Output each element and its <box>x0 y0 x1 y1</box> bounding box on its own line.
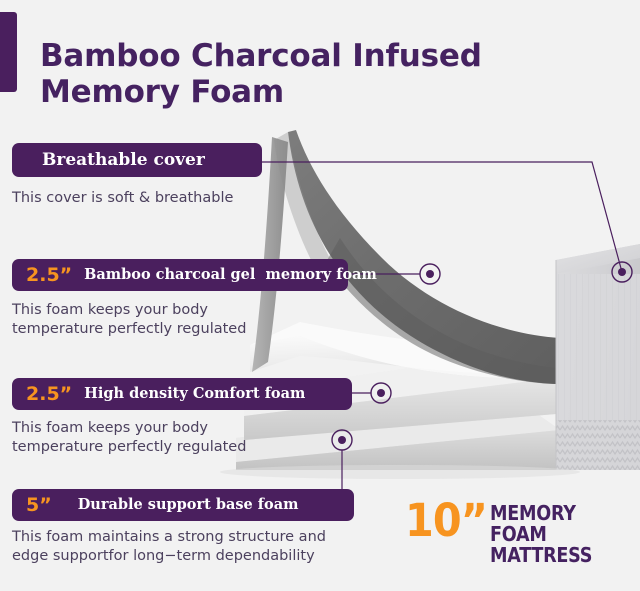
base-foam-layer <box>236 402 560 470</box>
callout-badge-high-density-comfort-foam[interactable]: 2.5” High density Comfort foam <box>12 378 352 410</box>
memory-foam-layer <box>250 322 552 378</box>
title-accent-bar <box>0 12 17 92</box>
size-words: MEMORY FOAM MATTRESS <box>490 503 622 567</box>
target-dot-icon <box>332 430 352 450</box>
connector-breathable-cover <box>262 162 622 272</box>
target-dot-icon <box>371 383 391 403</box>
callout-label: Breathable cover <box>42 152 205 169</box>
callout-label: Durable support base foam <box>78 498 299 513</box>
callout-description-high-density-comfort-foam: This foam keeps your body temperature pe… <box>12 419 282 456</box>
callout-measure: 2.5” <box>26 266 72 285</box>
callout-measure: 5” <box>26 496 52 515</box>
size-number: 10” <box>405 500 487 541</box>
callout-description-bamboo-charcoal-gel-memory-foam: This foam keeps your body temperature pe… <box>12 301 282 338</box>
callout-badge-durable-support-base-foam[interactable]: 5” Durable support base foam <box>12 489 354 521</box>
target-dot-icon <box>420 264 440 284</box>
callout-description-breathable-cover: This cover is soft & breathable <box>12 189 272 208</box>
callout-measure: 2.5” <box>26 385 72 404</box>
target-dot-icon <box>612 262 632 282</box>
callout-connectors <box>262 162 622 490</box>
peeled-cover-layer <box>252 130 560 384</box>
side-panel <box>556 244 640 470</box>
callout-badge-bamboo-charcoal-gel-memory-foam[interactable]: 2.5” Bamboo charcoal gel memory foam <box>12 259 348 291</box>
page-title: Bamboo Charcoal Infused Memory Foam <box>40 39 510 111</box>
callout-label: High density Comfort foam <box>84 387 305 402</box>
callout-description-durable-support-base-foam: This foam maintains a strong structure a… <box>12 528 352 565</box>
mattress-infographic: Bamboo Charcoal Infused Memory Foam Brea… <box>0 0 640 591</box>
callout-label: Bamboo charcoal gel memory foam <box>84 268 377 283</box>
callout-markers <box>332 262 632 450</box>
callout-badge-breathable-cover[interactable]: Breathable cover <box>12 143 262 177</box>
size-lockup: 10” MEMORY FOAM MATTRESS <box>405 500 640 567</box>
